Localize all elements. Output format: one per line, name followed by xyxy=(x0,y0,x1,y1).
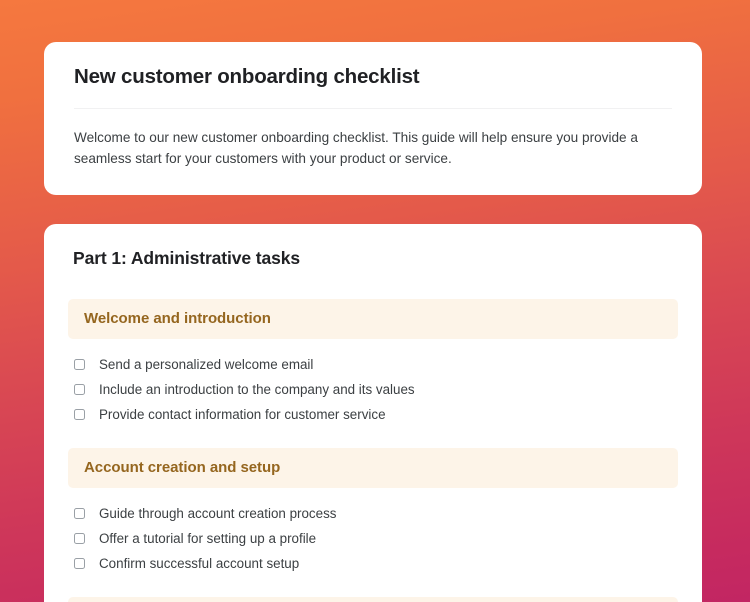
section-account-creation-and-setup: Account creation and setup Guide through… xyxy=(68,448,678,576)
intro-paragraph: Welcome to our new customer onboarding c… xyxy=(74,127,644,169)
checkbox-icon[interactable] xyxy=(74,533,85,544)
section-heading: Welcome and introduction xyxy=(68,299,678,339)
list-item[interactable]: Provide contact information for customer… xyxy=(74,402,678,427)
document-page: New customer onboarding checklist Welcom… xyxy=(0,0,750,602)
intro-card: New customer onboarding checklist Welcom… xyxy=(44,42,702,195)
section-welcome-and-introduction: Welcome and introduction Send a personal… xyxy=(68,299,678,427)
checkbox-icon[interactable] xyxy=(74,558,85,569)
section-heading: Legal and compliance xyxy=(68,597,678,602)
checklist-card: Part 1: Administrative tasks Welcome and… xyxy=(44,224,702,602)
section-heading: Account creation and setup xyxy=(68,448,678,488)
task-label: Offer a tutorial for setting up a profil… xyxy=(99,530,316,547)
checkbox-icon[interactable] xyxy=(74,359,85,370)
checkbox-icon[interactable] xyxy=(74,409,85,420)
list-item[interactable]: Offer a tutorial for setting up a profil… xyxy=(74,526,678,551)
task-label: Send a personalized welcome email xyxy=(99,356,313,373)
checkbox-icon[interactable] xyxy=(74,508,85,519)
task-list: Guide through account creation process O… xyxy=(68,488,678,576)
list-item[interactable]: Send a personalized welcome email xyxy=(74,352,678,377)
part-heading: Part 1: Administrative tasks xyxy=(68,248,678,269)
task-label: Confirm successful account setup xyxy=(99,555,299,572)
task-list: Send a personalized welcome email Includ… xyxy=(68,339,678,427)
card-spacer xyxy=(44,195,702,224)
task-label: Include an introduction to the company a… xyxy=(99,381,415,398)
task-label: Guide through account creation process xyxy=(99,505,336,522)
list-item[interactable]: Include an introduction to the company a… xyxy=(74,377,678,402)
page-title: New customer onboarding checklist xyxy=(74,64,672,108)
list-item[interactable]: Confirm successful account setup xyxy=(74,551,678,576)
task-label: Provide contact information for customer… xyxy=(99,406,386,423)
section-legal-and-compliance: Legal and compliance Confirm understandi… xyxy=(68,597,678,602)
title-divider xyxy=(74,108,672,109)
list-item[interactable]: Guide through account creation process xyxy=(74,501,678,526)
checkbox-icon[interactable] xyxy=(74,384,85,395)
